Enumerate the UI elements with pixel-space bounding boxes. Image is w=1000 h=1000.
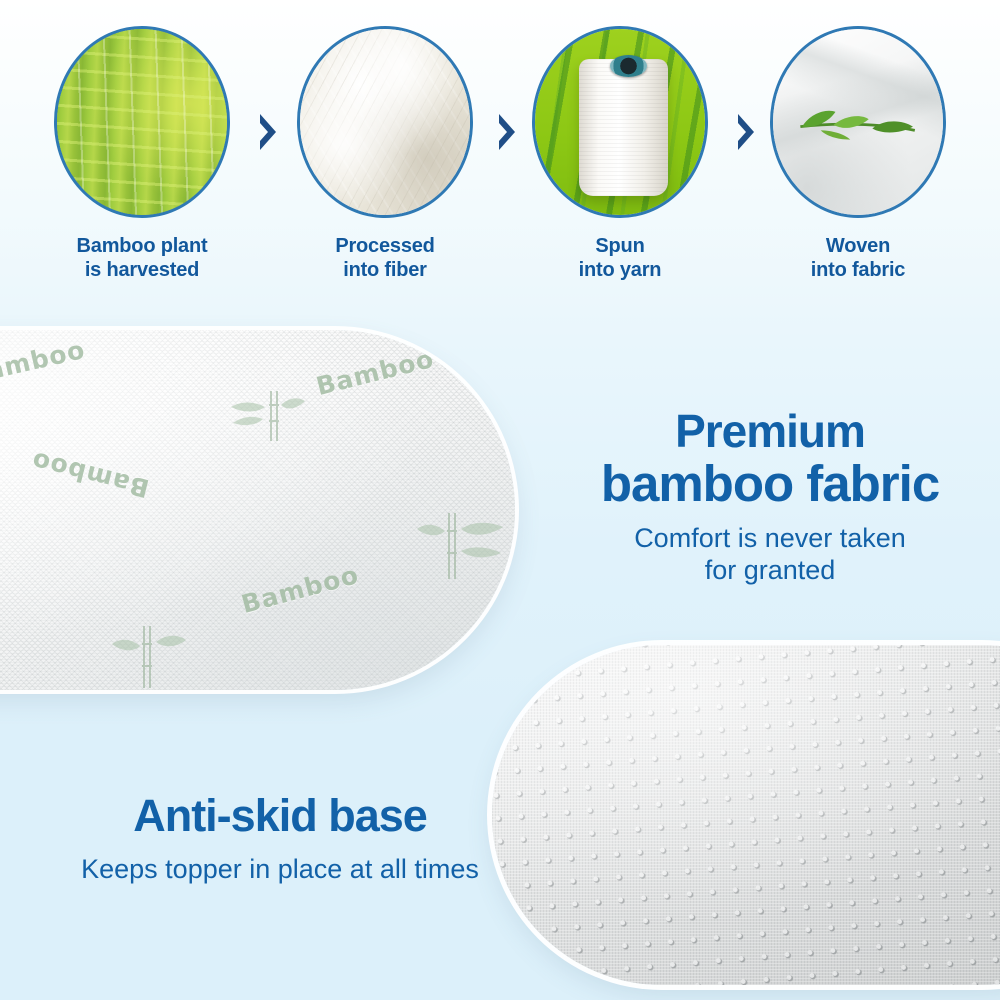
anti-skid-base-surface — [492, 645, 1000, 985]
caption-line-1: Bamboo plant — [77, 235, 208, 257]
caption-line-1: Processed — [335, 235, 434, 257]
premium-subtitle-line-2: for granted — [540, 555, 1000, 587]
bamboo-leaf-sprig-icon — [793, 96, 922, 148]
bamboo-plant-motif — [110, 622, 190, 690]
chevron-right-icon — [494, 112, 520, 152]
yarn-spool-photo — [535, 29, 705, 215]
chevron-right-icon — [733, 112, 759, 152]
process-step-2: Processed into fiber — [285, 26, 485, 283]
caption-line-2: into yarn — [579, 259, 662, 281]
premium-title: Premium bamboo fabric — [540, 408, 1000, 509]
process-step-2-caption: Processed into fiber — [285, 234, 485, 283]
process-step-4: Woven into fabric — [758, 26, 958, 283]
bamboo-fiber-fluff-photo — [300, 29, 470, 215]
anti-skid-base-block: Anti-skid base Keeps topper in place at … — [20, 790, 540, 885]
anti-skid-title: Anti-skid base — [20, 790, 540, 842]
bamboo-topper-surface: Bamboo Bamboo Bamboo Bamboo — [0, 330, 515, 690]
premium-subtitle-line-1: Comfort is never taken — [634, 523, 906, 553]
caption-line-1: Woven — [826, 235, 890, 257]
anti-skid-subtitle: Keeps topper in place at all times — [20, 854, 540, 885]
process-step-4-caption: Woven into fabric — [758, 234, 958, 283]
yarn-cone — [579, 59, 667, 197]
bamboo-stalks-photo — [57, 29, 227, 215]
premium-title-line-1: Premium — [675, 405, 865, 457]
premium-bamboo-fabric-block: Premium bamboo fabric Comfort is never t… — [540, 408, 1000, 587]
caption-line-2: is harvested — [85, 259, 199, 281]
surface-shading — [492, 645, 1000, 985]
chevron-right-icon — [255, 112, 281, 152]
caption-line-2: into fabric — [811, 259, 905, 281]
process-step-3: Spun into yarn — [520, 26, 720, 283]
process-step-3-caption: Spun into yarn — [520, 234, 720, 283]
bamboo-fiber-photo-circle — [297, 26, 473, 218]
process-step-1-caption: Bamboo plant is harvested — [42, 234, 242, 283]
caption-line-1: Spun — [595, 235, 644, 257]
caption-line-2: into fiber — [343, 259, 427, 281]
bamboo-plant-motif — [215, 385, 307, 447]
process-step-1: Bamboo plant is harvested — [42, 26, 242, 283]
woven-fabric-photo-circle — [770, 26, 946, 218]
bamboo-plant-photo-circle — [54, 26, 230, 218]
yarn-spool-photo-circle — [532, 26, 708, 218]
product-infographic: Bamboo plant is harvested Processed into… — [0, 0, 1000, 1000]
premium-title-line-2: bamboo fabric — [540, 458, 1000, 509]
premium-subtitle: Comfort is never taken for granted — [540, 523, 1000, 587]
bamboo-plant-motif — [415, 505, 515, 585]
bamboo-process-strip: Bamboo plant is harvested Processed into… — [0, 0, 1000, 320]
